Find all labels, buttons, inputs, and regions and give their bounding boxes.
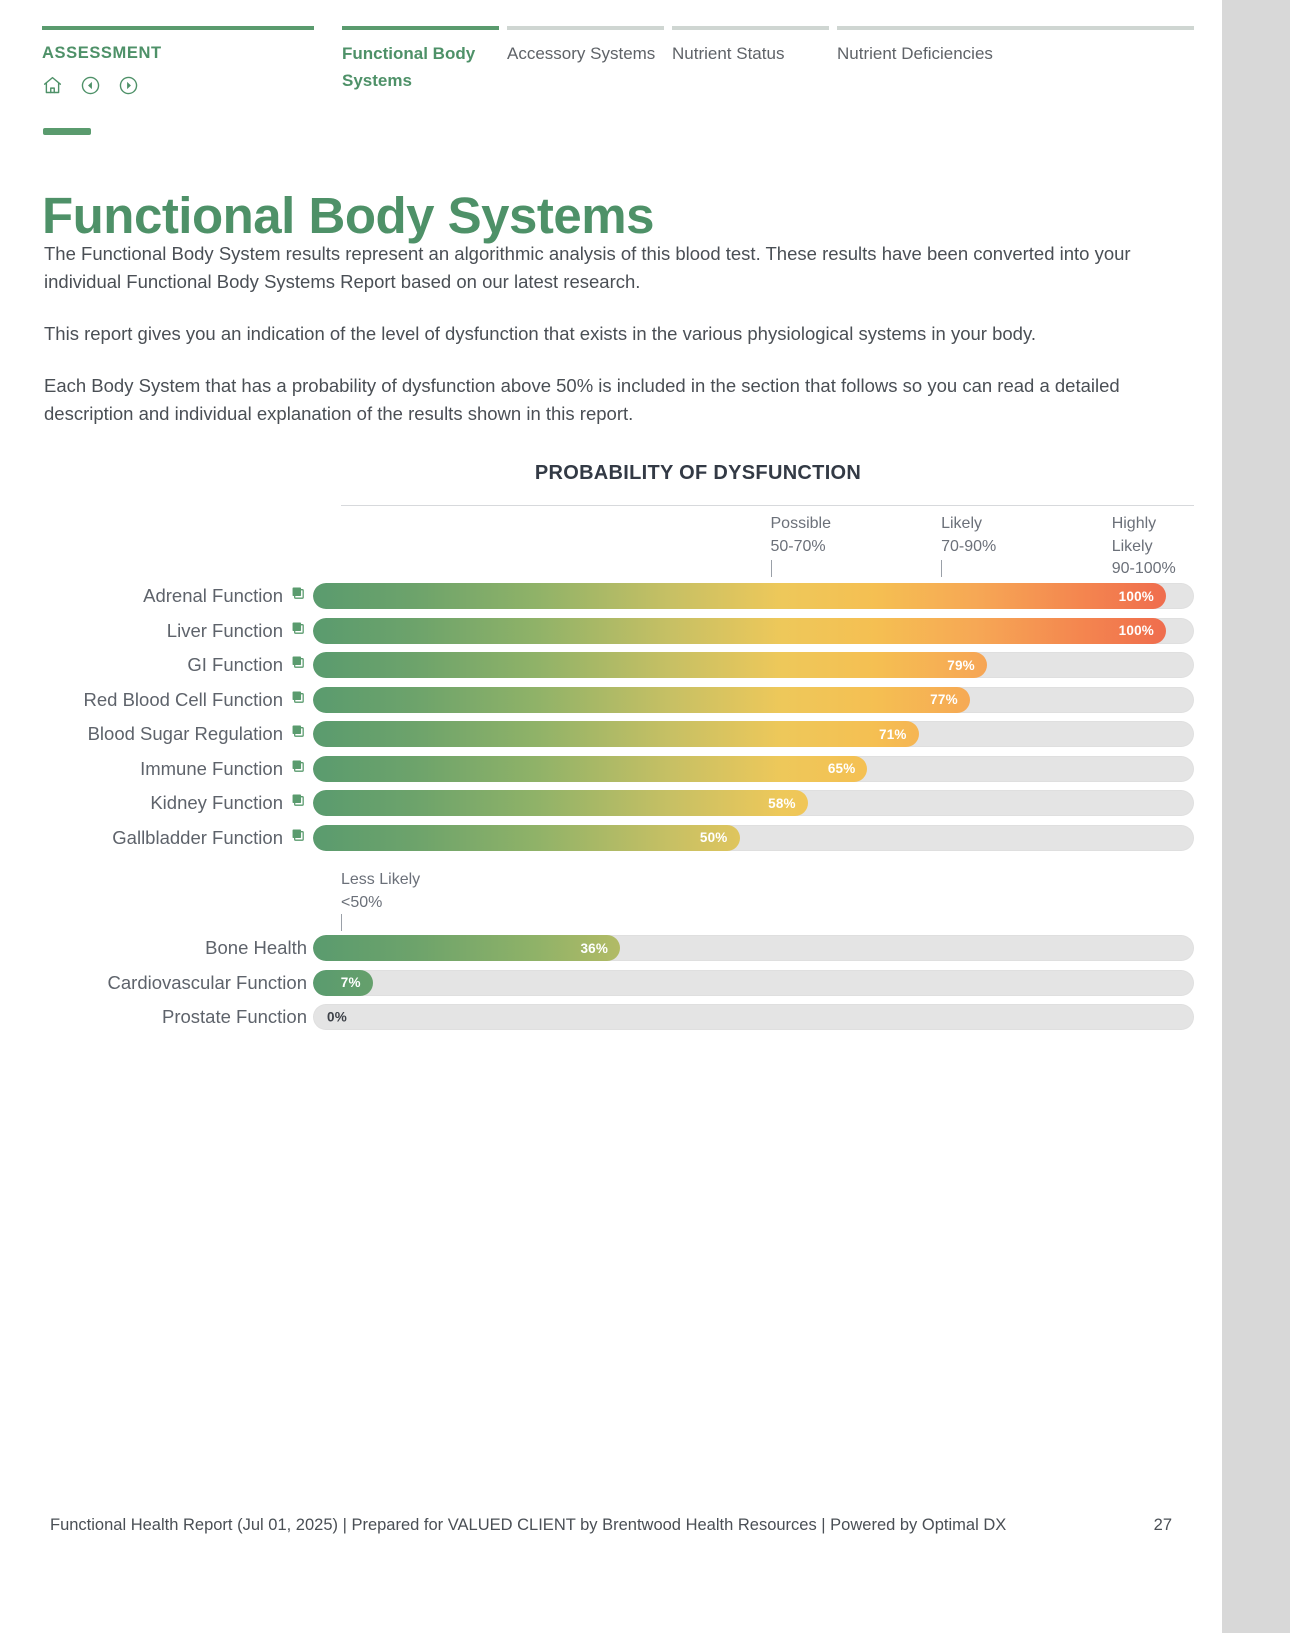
legend-tick-0	[341, 914, 342, 931]
footer-text: Functional Health Report (Jul 01, 2025) …	[50, 1516, 1134, 1535]
bar-label-text: Bone Health	[205, 937, 307, 959]
bar-value-label: 100%	[1119, 623, 1166, 638]
tab-nutrient-status[interactable]: Nutrient Status	[672, 26, 837, 67]
bar-row: Kidney Function58%	[42, 786, 1194, 821]
tab-label: Accessory Systems	[507, 44, 655, 63]
intro-paragraph: Each Body System that has a probability …	[44, 372, 1192, 428]
bar-value-label: 65%	[828, 761, 868, 776]
bar-label-text: GI Function	[187, 654, 283, 676]
bar-value-label: 0%	[327, 1010, 347, 1025]
bar-value-label: 58%	[768, 796, 808, 811]
bar-row-label: Adrenal Function	[42, 585, 313, 607]
bar-fill: 65%	[313, 756, 867, 782]
bar-track: 0%	[313, 1004, 1194, 1030]
less-likely-label: Less Likely <50%	[341, 869, 1194, 914]
page-header: ASSESSMENT	[42, 26, 1194, 96]
bar-rows-above-threshold: Adrenal Function100%Liver Function100%GI…	[42, 579, 1194, 855]
duplicate-icon[interactable]	[290, 689, 307, 711]
legend-highly-likely: Highly Likely 90-100%	[1112, 513, 1194, 581]
bar-row-label: Gallbladder Function	[42, 827, 313, 849]
duplicate-icon[interactable]	[290, 792, 307, 814]
bar-track: 77%	[313, 687, 1194, 713]
bar-row-label: Immune Function	[42, 758, 313, 780]
assessment-column: ASSESSMENT	[42, 26, 342, 96]
bar-row: Prostate Function0%	[42, 1000, 1194, 1035]
bar-label-text: Blood Sugar Regulation	[88, 723, 283, 745]
bar-fill: 100%	[313, 583, 1166, 609]
chart-legend: Possible 50-70% Likely 70-90% Highly Lik…	[341, 501, 1194, 579]
bar-track: 71%	[313, 721, 1194, 747]
bar-track: 50%	[313, 825, 1194, 851]
bar-label-text: Kidney Function	[150, 792, 283, 814]
bar-row-label: GI Function	[42, 654, 313, 676]
bar-fill: 50%	[313, 825, 740, 851]
bar-row-label: Cardiovascular Function	[42, 972, 313, 994]
bar-row-label: Blood Sugar Regulation	[42, 723, 313, 745]
bar-row: Gallbladder Function50%	[42, 821, 1194, 856]
bar-label-text: Liver Function	[167, 620, 283, 642]
bar-row: GI Function79%	[42, 648, 1194, 683]
bar-value-label: 100%	[1119, 589, 1166, 604]
home-icon[interactable]	[42, 75, 63, 96]
bar-label-text: Cardiovascular Function	[108, 972, 307, 994]
report-tabs: Functional Body Systems Accessory System…	[342, 26, 1194, 94]
title-accent-dash	[43, 128, 91, 135]
bar-fill: 100%	[313, 618, 1166, 644]
intro-text: The Functional Body System results repre…	[44, 240, 1192, 452]
bar-fill: 77%	[313, 687, 970, 713]
bar-label-text: Gallbladder Function	[112, 827, 283, 849]
bar-track: 7%	[313, 970, 1194, 996]
bar-track: 79%	[313, 652, 1194, 678]
bar-row: Blood Sugar Regulation71%	[42, 717, 1194, 752]
bar-row: Adrenal Function100%	[42, 579, 1194, 614]
tab-label: Nutrient Status	[672, 44, 784, 63]
page-navigation	[42, 75, 342, 96]
tab-label: Nutrient Deficiencies	[837, 44, 993, 63]
bar-track: 65%	[313, 756, 1194, 782]
probability-of-dysfunction-chart: PROBABILITY OF DYSFUNCTION Possible 50-7…	[42, 462, 1194, 1035]
bar-row-label: Liver Function	[42, 620, 313, 642]
tab-nutrient-deficiencies[interactable]: Nutrient Deficiencies	[837, 26, 1194, 67]
bar-label-text: Red Blood Cell Function	[84, 689, 284, 711]
page-title: Functional Body Systems	[42, 186, 654, 245]
legend-tick-50	[771, 560, 772, 577]
bar-label-text: Immune Function	[140, 758, 283, 780]
legend-possible: Possible 50-70%	[771, 513, 831, 558]
assessment-label: ASSESSMENT	[42, 44, 342, 63]
previous-page-icon[interactable]	[80, 75, 101, 96]
duplicate-icon[interactable]	[290, 723, 307, 745]
bar-row-label: Prostate Function	[42, 1006, 313, 1028]
legend-tick-70	[941, 560, 942, 577]
bar-fill: 36%	[313, 935, 620, 961]
bar-row-label: Red Blood Cell Function	[42, 689, 313, 711]
bar-rows-below-threshold: Bone Health36%Cardiovascular Function7%P…	[42, 931, 1194, 1035]
bar-fill: 7%	[313, 970, 373, 996]
bar-row-label: Bone Health	[42, 937, 313, 959]
bar-label-text: Adrenal Function	[143, 585, 283, 607]
duplicate-icon[interactable]	[290, 758, 307, 780]
legend-likely: Likely 70-90%	[941, 513, 996, 558]
duplicate-icon[interactable]	[290, 585, 307, 607]
report-page: ASSESSMENT	[0, 0, 1222, 1633]
bar-value-label: 36%	[580, 941, 620, 956]
tab-functional-body-systems[interactable]: Functional Body Systems	[342, 26, 507, 94]
bar-value-label: 77%	[930, 692, 970, 707]
next-page-icon[interactable]	[118, 75, 139, 96]
page-footer: Functional Health Report (Jul 01, 2025) …	[0, 1516, 1222, 1535]
duplicate-icon[interactable]	[290, 620, 307, 642]
intro-paragraph: The Functional Body System results repre…	[44, 240, 1192, 296]
bar-track: 36%	[313, 935, 1194, 961]
bar-label-text: Prostate Function	[162, 1006, 307, 1028]
less-likely-legend: Less Likely <50%	[341, 855, 1194, 931]
bar-row-label: Kidney Function	[42, 792, 313, 814]
bar-row: Immune Function65%	[42, 752, 1194, 787]
bar-row: Red Blood Cell Function77%	[42, 683, 1194, 718]
bar-value-label: 71%	[879, 727, 919, 742]
chart-title: PROBABILITY OF DYSFUNCTION	[202, 462, 1194, 485]
assessment-rule	[42, 26, 314, 30]
duplicate-icon[interactable]	[290, 827, 307, 849]
bar-row: Liver Function100%	[42, 614, 1194, 649]
tab-indicator	[837, 26, 1194, 30]
bar-fill: 58%	[313, 790, 808, 816]
bar-track: 100%	[313, 583, 1194, 609]
tab-indicator	[507, 26, 664, 30]
tab-label: Functional Body Systems	[342, 44, 475, 90]
bar-value-label: 79%	[947, 658, 987, 673]
bar-value-label: 50%	[700, 830, 740, 845]
tab-indicator	[342, 26, 499, 30]
duplicate-icon[interactable]	[290, 654, 307, 676]
bar-row: Bone Health36%	[42, 931, 1194, 966]
tab-accessory-systems[interactable]: Accessory Systems	[507, 26, 672, 67]
bar-track: 58%	[313, 790, 1194, 816]
footer-page-number: 27	[1154, 1516, 1172, 1535]
bar-track: 100%	[313, 618, 1194, 644]
intro-paragraph: This report gives you an indication of t…	[44, 320, 1192, 348]
bar-fill: 71%	[313, 721, 919, 747]
tab-indicator	[672, 26, 829, 30]
bar-row: Cardiovascular Function7%	[42, 966, 1194, 1001]
bar-fill: 79%	[313, 652, 987, 678]
bar-value-label: 7%	[341, 975, 373, 990]
